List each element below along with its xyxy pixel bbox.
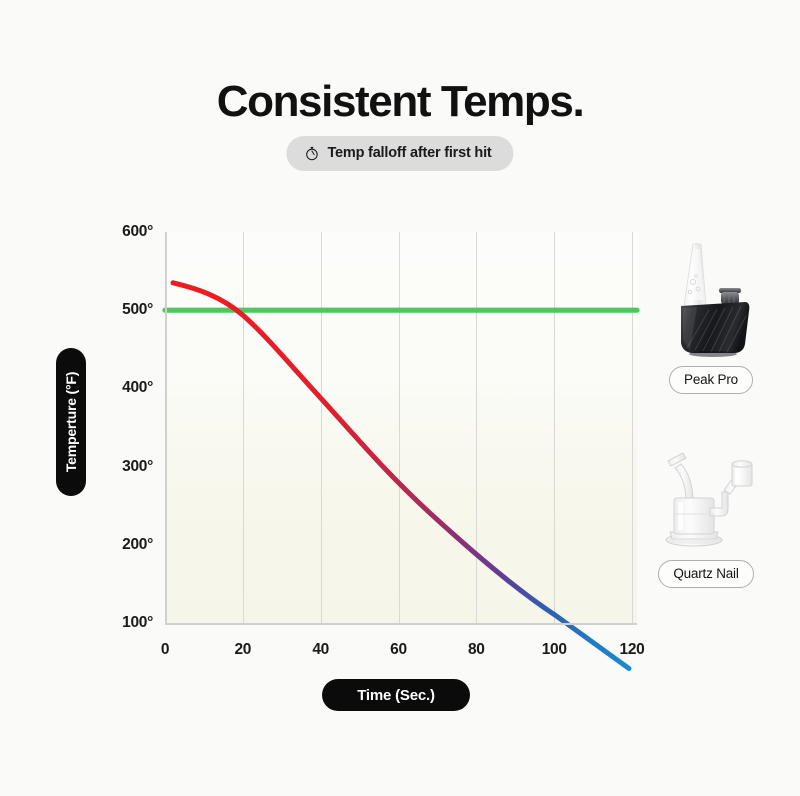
stopwatch-icon [304, 146, 319, 161]
y-axis-line [165, 232, 167, 623]
x-axis-title-pill: Time (Sec.) [322, 679, 470, 711]
x-tick-60: 60 [390, 641, 407, 659]
chart-plot-area [165, 232, 637, 623]
chart-series-layer [165, 232, 637, 623]
chart-page: Consistent Temps. Temp falloff after fir… [0, 0, 800, 796]
legend-label-peak-pro: Peak Pro [669, 366, 753, 394]
y-tick-100: 100° [122, 614, 153, 632]
subtitle-badge: Temp falloff after first hit [286, 136, 513, 171]
legend-item-peak-pro: Peak Pro [645, 240, 777, 394]
page-title: Consistent Temps. [0, 76, 800, 128]
y-tick-200: 200° [122, 536, 153, 554]
legend-item-quartz-nail: Quartz Nail [640, 440, 772, 588]
y-tick-400: 400° [122, 379, 153, 397]
y-axis-ticks: 600° 500° 400° 300° 200° 100° [101, 232, 153, 623]
series-line-quartz-nail [173, 283, 629, 669]
x-axis-ticks: 0 20 40 60 80 100 120 [165, 641, 637, 663]
x-axis-title-label: Time (Sec.) [357, 687, 435, 704]
y-axis-title-label: Temperture (°F) [63, 372, 79, 472]
y-axis-title-pill: Temperture (°F) [56, 348, 86, 496]
x-tick-20: 20 [234, 641, 251, 659]
legend-label-quartz-nail: Quartz Nail [658, 560, 753, 588]
x-tick-0: 0 [161, 641, 169, 659]
y-tick-600: 600° [122, 223, 153, 241]
x-axis-line [165, 623, 637, 625]
peak-pro-device-icon [657, 240, 765, 358]
x-tick-100: 100 [542, 641, 567, 659]
subtitle-badge-label: Temp falloff after first hit [327, 145, 491, 161]
x-tick-120: 120 [620, 641, 645, 659]
x-tick-40: 40 [312, 641, 329, 659]
y-tick-500: 500° [122, 301, 153, 319]
quartz-nail-rig-icon [650, 440, 762, 552]
y-tick-300: 300° [122, 458, 153, 476]
x-tick-80: 80 [468, 641, 485, 659]
